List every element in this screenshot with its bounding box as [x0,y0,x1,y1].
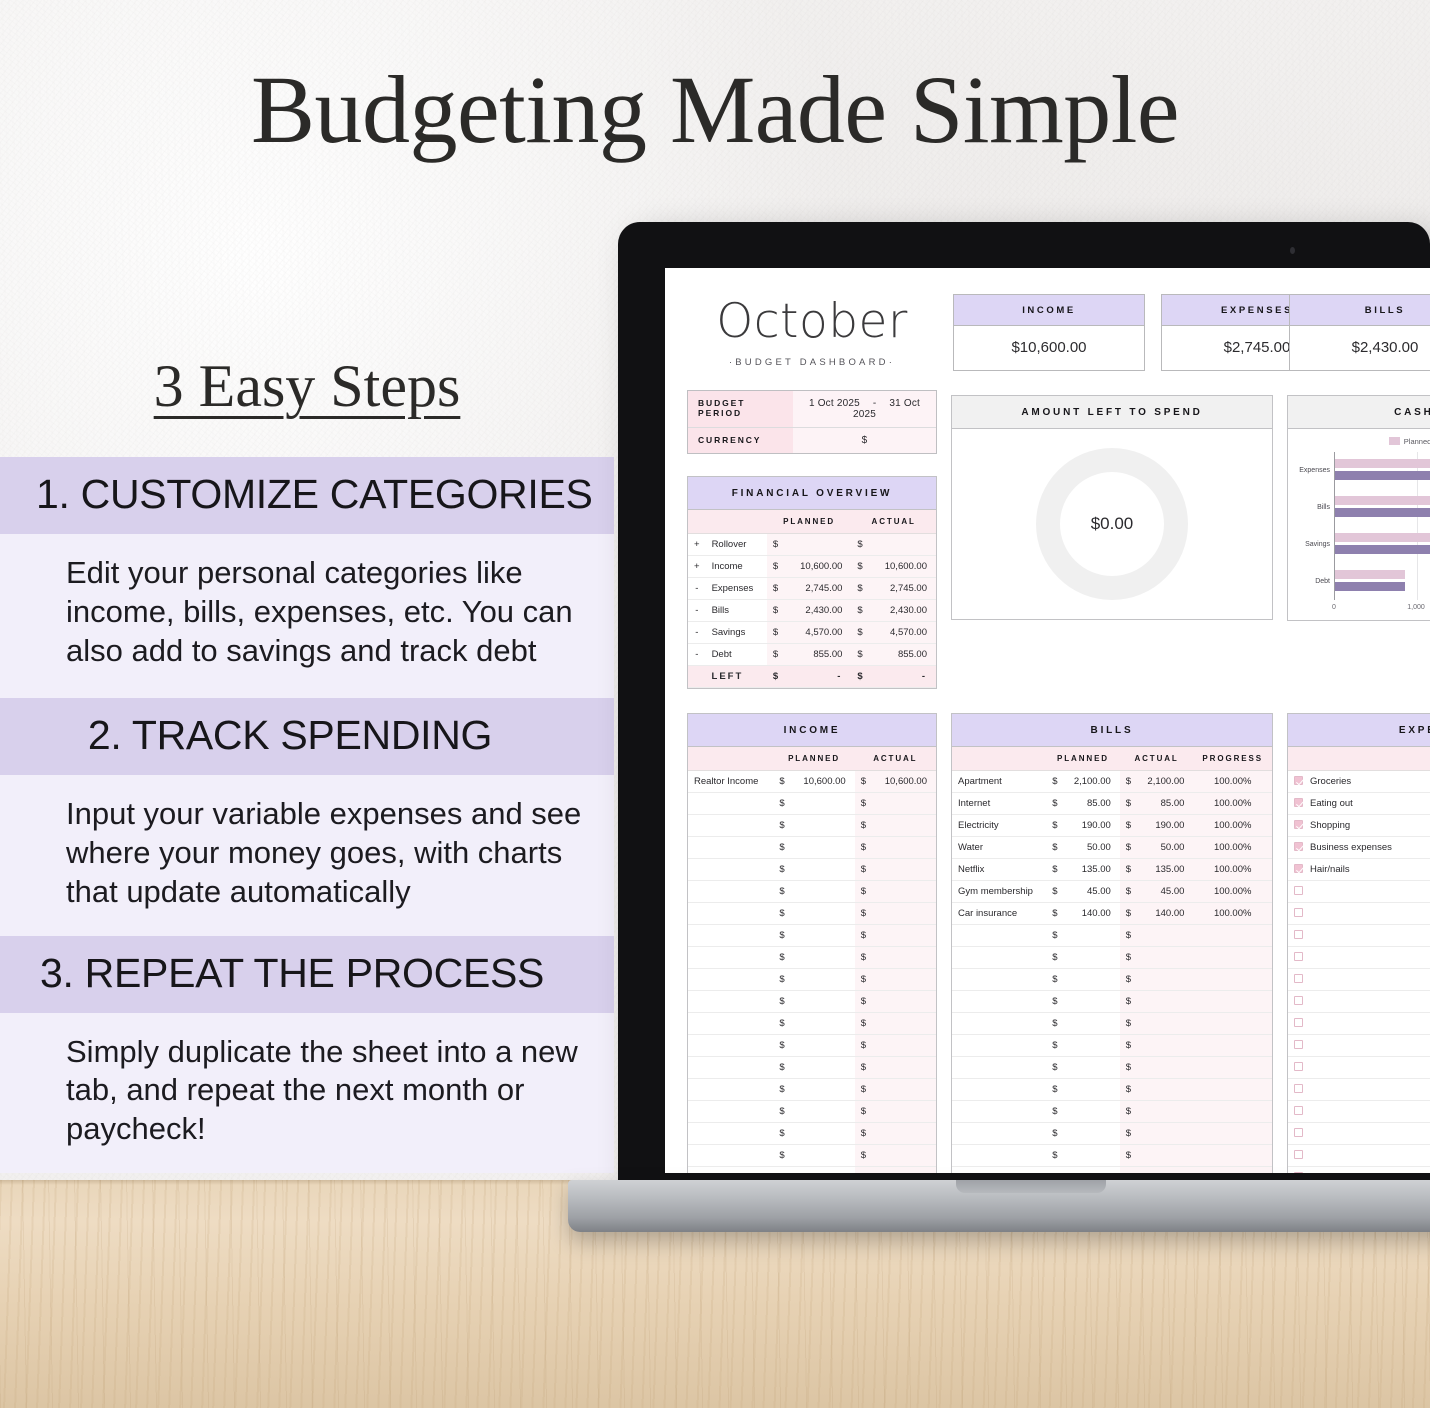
dashboard-left-column: October ·BUDGET DASHBOARD· BUDGET PERIOD… [687,294,937,689]
income-row-planned[interactable]: 10,600.00 [791,771,855,793]
income-row-actual[interactable] [872,969,936,991]
metric-bills-value: $2,430.00 [1290,326,1430,370]
income-row-planned[interactable] [791,1057,855,1079]
income-row-name[interactable] [688,1145,773,1167]
fo-col-planned: PLANNED [767,510,852,534]
income-row-planned[interactable] [791,793,855,815]
currency-symbol: $ [1046,1035,1063,1057]
fo-row-sign: - [688,600,706,622]
income-row-name[interactable] [688,815,773,837]
bills-table: PLANNED ACTUAL PROGRESS Apartment$2,100.… [952,747,1272,1173]
currency-symbol: $ [1120,1123,1137,1145]
fo-row-actual[interactable] [871,534,936,556]
bills-row-planned[interactable] [1064,991,1120,1013]
table-row: $ [1288,903,1430,925]
cash-flow-chart: PlannedActual ExpensesBillsSavingsDebt 0… [1288,429,1430,620]
bills-row-name[interactable]: Netflix [952,859,1046,881]
income-row-actual[interactable] [872,837,936,859]
income-row-name[interactable] [688,1167,773,1174]
expenses-row-name[interactable]: Shopping [1310,820,1350,831]
income-row-planned[interactable] [791,1079,855,1101]
bills-row-name[interactable] [952,1057,1046,1079]
laptop-lid: October ·BUDGET DASHBOARD· BUDGET PERIOD… [618,222,1430,1184]
bills-row-name[interactable]: Car insurance [952,903,1046,925]
income-row-name[interactable] [688,837,773,859]
income-row-planned[interactable] [791,925,855,947]
bills-row-planned[interactable]: 85.00 [1064,793,1120,815]
chart-category-label: Savings [1292,541,1334,548]
month-title: October [687,294,937,349]
currency-symbol: $ [773,1057,790,1079]
cash-flow-title: CASH FLOW [1288,396,1430,429]
expenses-row-name-cell [1288,1079,1430,1101]
checkbox-icon[interactable] [1294,930,1303,939]
chart-bar-group [1335,570,1430,594]
income-row-name[interactable] [688,969,773,991]
income-row-planned[interactable] [791,1145,855,1167]
currency-symbol: $ [1120,815,1137,837]
income-row-actual[interactable] [872,1057,936,1079]
bills-row-actual[interactable]: 50.00 [1137,837,1193,859]
currency-symbol: $ [1046,1167,1063,1174]
currency-symbol: $ [855,947,872,969]
checkbox-icon[interactable] [1294,776,1303,785]
currency-symbol: $ [767,622,786,644]
expenses-row-name[interactable]: Hair/nails [1310,864,1350,875]
fo-row-sign: - [688,644,706,666]
currency-symbol: $ [767,644,786,666]
currency-symbol: $ [1120,925,1137,947]
bills-row-progress [1193,991,1272,1013]
currency-symbol: $ [851,600,870,622]
bills-row-name[interactable]: Water [952,837,1046,859]
checkbox-icon[interactable] [1294,1106,1303,1115]
bills-row-planned[interactable]: 190.00 [1064,815,1120,837]
fo-row-name: Debt [706,644,767,666]
currency-symbol: $ [1120,837,1137,859]
budget-dashboard: October ·BUDGET DASHBOARD· BUDGET PERIOD… [665,268,1430,1173]
income-row-actual[interactable] [872,815,936,837]
bills-row-actual[interactable] [1137,1145,1193,1167]
currency-symbol: $ [767,556,786,578]
table-row: Internet$85.00$85.00100.00% [952,793,1272,815]
checkbox-icon[interactable] [1294,1172,1303,1173]
income-row-actual[interactable] [872,947,936,969]
bills-row-name[interactable] [952,947,1046,969]
cash-flow-panel: CASH FLOW PlannedActual ExpensesBillsSav… [1287,395,1430,621]
bills-row-actual[interactable] [1137,969,1193,991]
bills-row-actual[interactable] [1137,1013,1193,1035]
income-row-planned[interactable] [791,837,855,859]
checkbox-icon[interactable] [1294,1128,1303,1137]
currency-symbol: $ [855,1057,872,1079]
income-row-actual[interactable] [872,903,936,925]
table-row: $$ [688,1079,936,1101]
bills-row-actual[interactable] [1137,1035,1193,1057]
budget-period-start[interactable]: 1 Oct 2025 [809,398,860,409]
bills-row-actual[interactable] [1137,925,1193,947]
chart-category-label: Debt [1292,578,1334,585]
bills-row-planned[interactable]: 50.00 [1064,837,1120,859]
bills-row-planned[interactable] [1064,1123,1120,1145]
checkbox-icon[interactable] [1294,1084,1303,1093]
income-table: PLANNED ACTUAL Realtor Income$10,600.00$… [688,747,936,1173]
bills-row-actual[interactable]: 45.00 [1137,881,1193,903]
bills-row-name[interactable]: Internet [952,793,1046,815]
expenses-row-name-cell: Shopping [1288,815,1430,837]
bills-row-actual[interactable] [1137,1057,1193,1079]
fo-left-actual: - [871,666,936,688]
fo-row-planned[interactable]: 10,600.00 [786,556,851,578]
bills-row-name[interactable] [952,1167,1046,1174]
expenses-row-name[interactable]: Eating out [1310,798,1353,809]
fo-row-actual[interactable]: 4,570.00 [871,622,936,644]
bills-row-actual[interactable]: 135.00 [1137,859,1193,881]
currency-symbol: $ [855,1013,872,1035]
fo-row-sign: - [688,578,706,600]
bills-row-name[interactable]: Electricity [952,815,1046,837]
currency-symbol: $ [855,815,872,837]
currency-symbol: $ [773,903,790,925]
income-row-name[interactable] [688,1013,773,1035]
currency-label: CURRENCY [688,428,793,453]
currency-symbol: $ [773,1101,790,1123]
expenses-row-name-cell [1288,1057,1430,1079]
income-row-actual[interactable] [872,1145,936,1167]
bills-row-planned[interactable] [1064,1079,1120,1101]
bills-row-planned[interactable]: 2,100.00 [1064,771,1120,793]
table-row: $$ [688,925,936,947]
table-row: $$ [688,1013,936,1035]
income-row-actual[interactable] [872,881,936,903]
currency-symbol: $ [1046,881,1063,903]
currency-symbol: $ [851,556,870,578]
expenses-row-name[interactable]: Groceries [1310,776,1351,787]
income-row-name[interactable] [688,1079,773,1101]
income-row-actual[interactable] [872,1013,936,1035]
currency-symbol: $ [1046,1145,1063,1167]
bills-row-progress: 100.00% [1193,837,1272,859]
fo-row-planned[interactable]: 2,430.00 [786,600,851,622]
expenses-row-name-cell [1288,1123,1430,1145]
currency-symbol: $ [855,925,872,947]
table-row: $ [1288,881,1430,903]
fo-row-name: Rollover [706,534,767,556]
bills-row-name[interactable]: Gym membership [952,881,1046,903]
donut-ring: $0.00 [1036,448,1188,600]
bills-row-progress [1193,925,1272,947]
income-row-planned[interactable] [791,881,855,903]
currency-symbol: $ [773,1123,790,1145]
income-row-planned[interactable] [791,1101,855,1123]
bills-row-name[interactable]: Apartment [952,771,1046,793]
table-row: $$ [688,815,936,837]
bills-row-name[interactable] [952,1079,1046,1101]
fo-row-sign: + [688,556,706,578]
bills-row-actual[interactable]: 2,100.00 [1137,771,1193,793]
webcam-icon [1290,247,1295,254]
expenses-row-name-cell [1288,1035,1430,1057]
bills-row-progress: 100.00% [1193,793,1272,815]
checkbox-icon[interactable] [1294,1040,1303,1049]
income-row-planned[interactable] [791,991,855,1013]
currency-symbol: $ [855,859,872,881]
bills-row-name[interactable] [952,969,1046,991]
income-row-actual[interactable] [872,991,936,1013]
table-row: $ [1288,991,1430,1013]
currency-symbol: $ [1046,991,1063,1013]
chart-category-labels: ExpensesBillsSavingsDebt [1292,452,1334,600]
income-row-planned[interactable] [791,947,855,969]
table-row: $ [1288,969,1430,991]
bills-row-planned[interactable] [1064,1057,1120,1079]
table-row: $$ [688,1035,936,1057]
currency-value[interactable]: $ [793,428,936,453]
chart-bar-planned [1335,570,1405,579]
income-row-actual[interactable] [872,793,936,815]
bills-row-name[interactable] [952,991,1046,1013]
budget-period-box: BUDGET PERIOD 1 Oct 2025 - 31 Oct 2025 C… [687,390,937,454]
bills-title: BILLS [952,714,1272,747]
expenses-panel: EXPENSES PLANNED Groceries$550.Eating ou… [1287,713,1430,1173]
currency-symbol: $ [773,1079,790,1101]
checkbox-icon[interactable] [1294,842,1303,851]
bills-row-actual[interactable] [1137,1079,1193,1101]
income-row-planned[interactable] [791,1123,855,1145]
fo-row-actual[interactable]: 10,600.00 [871,556,936,578]
fo-row-actual[interactable]: 855.00 [871,644,936,666]
income-row-actual[interactable] [872,1079,936,1101]
bills-row-progress [1193,1035,1272,1057]
fo-row-name: Savings [706,622,767,644]
table-row: $ [1288,1145,1430,1167]
income-row-planned[interactable] [791,1035,855,1057]
currency-symbol: $ [855,969,872,991]
table-row: $$ [952,1079,1272,1101]
table-header-row: PLANNED ACTUAL [688,747,936,771]
bills-row-name[interactable] [952,1123,1046,1145]
expenses-row-name-cell: Eating out [1288,793,1430,815]
dashboard-right-column: BILLS $2,430.00 CASH FLOW PlannedActual … [1287,294,1430,621]
income-row-name[interactable] [688,1101,773,1123]
chart-x-tick: 1,000 [1407,604,1425,611]
currency-symbol: $ [773,859,790,881]
table-row: $$ [688,793,936,815]
expenses-row-name[interactable]: Business expenses [1310,842,1392,853]
chart-legend: PlannedActual [1292,437,1430,446]
currency-symbol: $ [1046,1123,1063,1145]
table-row: -Savings$4,570.00$4,570.00 [688,622,936,644]
table-row: $$ [688,947,936,969]
bills-row-actual[interactable] [1137,1167,1193,1174]
budget-period-label: BUDGET PERIOD [688,391,793,428]
checkbox-icon[interactable] [1294,974,1303,983]
bills-row-planned[interactable]: 135.00 [1064,859,1120,881]
table-row: $ [1288,925,1430,947]
step-1-heading: 1. CUSTOMIZE CATEGORIES [0,457,614,534]
chart-bar-actual [1335,545,1430,554]
income-row-planned[interactable] [791,903,855,925]
currency-symbol: $ [1120,991,1137,1013]
table-row: $$ [952,1167,1272,1174]
checkbox-icon[interactable] [1294,1018,1303,1027]
income-row-actual[interactable]: 10,600.00 [872,771,936,793]
legend-label: Planned [1404,437,1430,446]
bills-row-name[interactable] [952,925,1046,947]
income-row-name[interactable] [688,925,773,947]
bills-row-actual[interactable]: 190.00 [1137,815,1193,837]
table-row: $ [1288,947,1430,969]
step-3-body: Simply duplicate the sheet into a new ta… [0,1013,614,1173]
income-row-actual[interactable] [872,859,936,881]
fo-row-sign: - [688,622,706,644]
checkbox-icon[interactable] [1294,1062,1303,1071]
currency-symbol: $ [855,903,872,925]
checkbox-icon[interactable] [1294,952,1303,961]
table-row: $ [1288,1079,1430,1101]
bills-row-planned[interactable]: 45.00 [1064,881,1120,903]
currency-symbol: $ [773,815,790,837]
income-row-name[interactable] [688,859,773,881]
laptop-screen: October ·BUDGET DASHBOARD· BUDGET PERIOD… [665,268,1430,1173]
checkbox-icon[interactable] [1294,798,1303,807]
checkbox-icon[interactable] [1294,908,1303,917]
bills-row-planned[interactable]: 140.00 [1064,903,1120,925]
checkbox-icon[interactable] [1294,1150,1303,1159]
income-row-actual[interactable] [872,1123,936,1145]
financial-overview-panel: FINANCIAL OVERVIEW PLANNED ACTUAL +Rollo… [687,476,937,689]
table-row: Business expenses$650. [1288,837,1430,859]
currency-symbol: $ [855,1035,872,1057]
income-row-name[interactable] [688,1123,773,1145]
steps-panel: 3 Easy Steps 1. CUSTOMIZE CATEGORIES Edi… [0,352,614,1173]
fo-row-planned[interactable]: 855.00 [786,644,851,666]
bills-row-actual[interactable]: 85.00 [1137,793,1193,815]
income-row-name[interactable] [688,881,773,903]
currency-symbol: $ [1120,881,1137,903]
amount-left-donut-chart: $0.00 [952,429,1272,619]
income-row-name[interactable] [688,947,773,969]
income-row-planned[interactable] [791,815,855,837]
income-row-planned[interactable] [791,859,855,881]
income-row-name[interactable] [688,793,773,815]
bills-row-planned[interactable] [1064,1145,1120,1167]
step-3-heading: 3. REPEAT THE PROCESS [0,936,614,1013]
bills-row-actual[interactable] [1137,1123,1193,1145]
fo-row-actual[interactable]: 2,745.00 [871,578,936,600]
currency-symbol: $ [767,534,786,556]
bills-row-actual[interactable] [1137,947,1193,969]
bills-row-planned[interactable] [1064,925,1120,947]
checkbox-icon[interactable] [1294,820,1303,829]
bills-row-name[interactable] [952,1101,1046,1123]
income-row-actual[interactable] [872,925,936,947]
bills-row-planned[interactable] [1064,1035,1120,1057]
income-row-actual[interactable] [872,1035,936,1057]
income-row-name[interactable] [688,991,773,1013]
bills-row-planned[interactable] [1064,947,1120,969]
currency-symbol: $ [855,1101,872,1123]
currency-symbol: $ [1046,925,1063,947]
checkbox-icon[interactable] [1294,864,1303,873]
currency-symbol: $ [1120,1057,1137,1079]
currency-symbol: $ [1120,793,1137,815]
currency-symbol: $ [773,1167,790,1174]
bills-row-progress: 100.00% [1193,859,1272,881]
page-title: Budgeting Made Simple [0,60,1430,161]
bills-row-progress [1193,1013,1272,1035]
table-row: $$ [688,1145,936,1167]
bills-row-planned[interactable] [1064,1013,1120,1035]
bills-row-name[interactable] [952,1035,1046,1057]
amount-left-panel: AMOUNT LEFT TO SPEND $0.00 [951,395,1273,620]
chart-bar-group [1335,533,1430,557]
table-row: $ [1288,1123,1430,1145]
currency-symbol: $ [1046,969,1063,991]
bills-row-name[interactable] [952,1145,1046,1167]
step-1-body: Edit your personal categories like incom… [0,534,614,698]
income-row-actual[interactable] [872,1167,936,1174]
checkbox-icon[interactable] [1294,886,1303,895]
income-panel: INCOME PLANNED ACTUAL Realtor Income$10,… [687,713,937,1173]
fo-row-actual[interactable]: 2,430.00 [871,600,936,622]
income-title: INCOME [688,714,936,747]
fo-row-planned[interactable]: 2,745.00 [786,578,851,600]
expenses-table: PLANNED Groceries$550.Eating out$300.Sho… [1288,747,1430,1173]
table-header-row: PLANNED [1288,747,1430,771]
table-row: Apartment$2,100.00$2,100.00100.00% [952,771,1272,793]
income-row-planned[interactable] [791,969,855,991]
table-header-row: PLANNED ACTUAL PROGRESS [952,747,1272,771]
currency-symbol: $ [1120,771,1137,793]
chart-bar-actual [1335,508,1430,517]
chart-plot-area: ExpensesBillsSavingsDebt [1292,452,1430,600]
currency-symbol: $ [1046,1079,1063,1101]
currency-symbol: $ [773,969,790,991]
income-row-name[interactable] [688,1035,773,1057]
fo-row-planned[interactable] [786,534,851,556]
currency-symbol: $ [855,991,872,1013]
income-row-planned[interactable] [791,1013,855,1035]
bills-col-progress: PROGRESS [1193,747,1272,771]
currency-symbol: $ [773,925,790,947]
currency-symbol: $ [1120,969,1137,991]
income-row-name[interactable] [688,903,773,925]
income-row-actual[interactable] [872,1101,936,1123]
income-row-name[interactable] [688,1057,773,1079]
fo-row-name: Income [706,556,767,578]
income-row-planned[interactable] [791,1167,855,1174]
checkbox-icon[interactable] [1294,996,1303,1005]
bills-row-progress [1193,1057,1272,1079]
fo-left-planned: - [786,666,851,688]
table-header-row: PLANNED ACTUAL [688,510,936,534]
currency-symbol: $ [1120,947,1137,969]
bills-row-actual[interactable] [1137,991,1193,1013]
bills-row-actual[interactable] [1137,1101,1193,1123]
currency-symbol: $ [773,1145,790,1167]
fo-row-planned[interactable]: 4,570.00 [786,622,851,644]
bills-row-name[interactable] [952,1013,1046,1035]
currency-symbol: $ [1120,1079,1137,1101]
bills-row-actual[interactable]: 140.00 [1137,903,1193,925]
bills-row-planned[interactable] [1064,1167,1120,1174]
chart-category-label: Expenses [1292,467,1334,474]
income-row-name[interactable]: Realtor Income [688,771,773,793]
bills-row-planned[interactable] [1064,969,1120,991]
bills-row-planned[interactable] [1064,1101,1120,1123]
table-row: $$ [952,925,1272,947]
